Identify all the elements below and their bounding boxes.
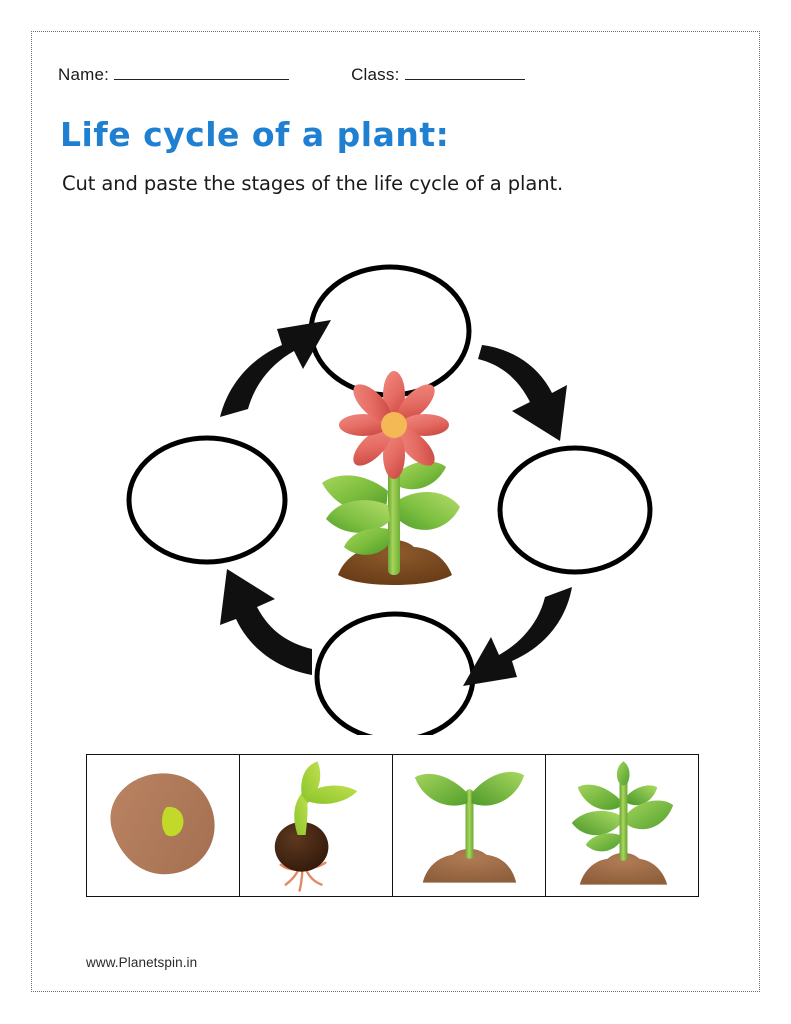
germinating-seed-image bbox=[275, 761, 357, 890]
cycle-arrow-bottom-left bbox=[220, 569, 312, 675]
flower-center bbox=[381, 412, 407, 438]
top-bud bbox=[617, 761, 630, 785]
leaf-left-mid bbox=[572, 811, 620, 835]
young-plant-image bbox=[572, 761, 673, 884]
seed-image bbox=[99, 760, 227, 888]
life-cycle-diagram bbox=[120, 245, 680, 735]
cycle-slot-right[interactable] bbox=[500, 448, 650, 572]
page-title: Life cycle of a plant: bbox=[60, 115, 449, 154]
class-input-line[interactable] bbox=[405, 66, 525, 80]
flowering-plant-image bbox=[322, 371, 460, 585]
cutout-card-seed[interactable] bbox=[87, 755, 240, 896]
name-input-line[interactable] bbox=[114, 66, 289, 80]
leaf-right-small bbox=[400, 461, 446, 489]
cycle-arrow-right-bottom bbox=[463, 587, 572, 686]
leaf-left-lower bbox=[586, 833, 620, 851]
cutout-card-young-plant[interactable] bbox=[546, 755, 698, 896]
cycle-arrow-left-top bbox=[220, 320, 331, 417]
plant-stem bbox=[620, 777, 628, 860]
flower-head bbox=[339, 371, 449, 479]
name-field[interactable]: Name: bbox=[58, 65, 289, 85]
cutout-card-seedling[interactable] bbox=[393, 755, 546, 896]
leaf-left-large-2 bbox=[326, 500, 390, 533]
seedling-leaf-right bbox=[471, 772, 524, 806]
cycle-arrow-top-right bbox=[478, 345, 567, 441]
cycle-slot-bottom[interactable] bbox=[317, 614, 473, 735]
cutout-card-germinating-seed[interactable] bbox=[240, 755, 393, 896]
leaf-left-upper bbox=[578, 785, 620, 810]
leaf-right-large bbox=[400, 492, 460, 530]
class-field[interactable]: Class: bbox=[351, 65, 524, 85]
student-info-row: Name: Class: bbox=[58, 65, 698, 91]
cycle-slot-left[interactable] bbox=[129, 438, 285, 562]
footer-website: www.Planetspin.in bbox=[86, 955, 197, 970]
instruction-text: Cut and paste the stages of the life cyc… bbox=[62, 172, 563, 195]
cutout-strip bbox=[86, 754, 699, 897]
class-label: Class: bbox=[351, 65, 399, 85]
seedling-image bbox=[415, 772, 524, 883]
name-label: Name: bbox=[58, 65, 109, 85]
seedling-leaf-left bbox=[415, 774, 468, 806]
